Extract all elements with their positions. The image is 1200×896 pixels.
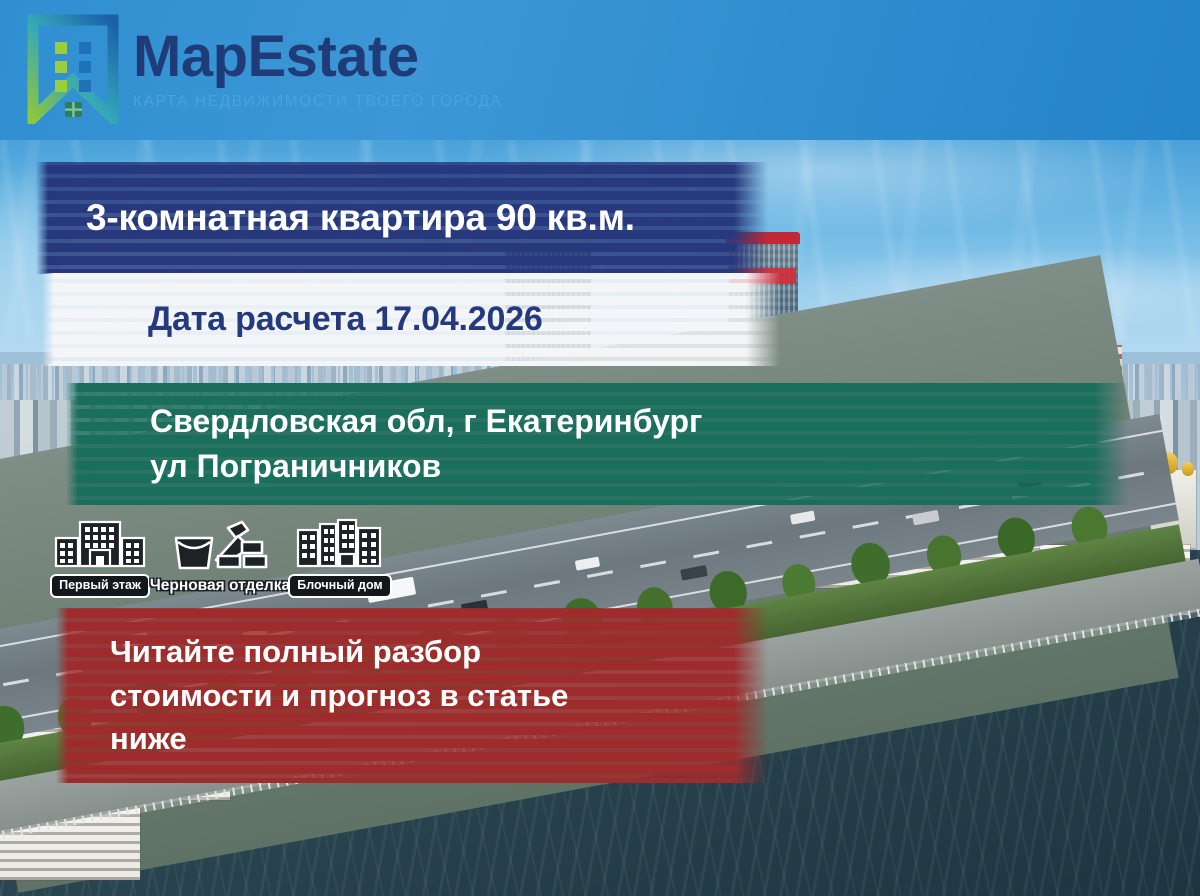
paint-bucket-trowel-icon	[166, 520, 274, 576]
cta-line-1: Читайте полный разбор	[110, 630, 568, 674]
header-bar: MapEstate КАРТА НЕДВИЖИМОСТИ ТВОЕГО ГОРО…	[0, 0, 1200, 140]
bookmark-building-logo-icon	[27, 14, 119, 124]
block-house-icon	[292, 516, 388, 572]
feature-badges: Первый этаж Черновая отделка	[46, 516, 394, 598]
badge-block-house: Блочный дом	[286, 516, 394, 598]
badge-label: Блочный дом	[288, 574, 391, 598]
cta-band[interactable]: Читайте полный разбор стоимости и прогно…	[56, 608, 768, 783]
calculation-date-band: Дата расчета 17.04.2026	[42, 273, 780, 366]
badge-label: Первый этаж	[50, 574, 150, 598]
car	[575, 556, 600, 570]
cta-text: Читайте полный разбор стоимости и прогно…	[56, 630, 568, 761]
brand-tagline: КАРТА НЕДВИЖИМОСТИ ТВОЕГО ГОРОДА	[133, 93, 502, 111]
brand-name: MapEstate	[133, 28, 502, 86]
cta-line-3: ниже	[110, 717, 568, 761]
badge-rough-finish: Черновая отделка	[158, 520, 282, 598]
apartment-building-icon	[52, 516, 148, 572]
calculation-date: Дата расчета 17.04.2026	[42, 300, 543, 339]
property-title: 3-комнатная квартира 90 кв.м.	[36, 197, 635, 239]
badge-first-floor: Первый этаж	[46, 516, 154, 598]
promo-poster: MapEstate КАРТА НЕДВИЖИМОСТИ ТВОЕГО ГОРО…	[0, 0, 1200, 896]
cta-line-2: стоимости и прогноз в статье	[110, 674, 568, 718]
logo[interactable]: MapEstate КАРТА НЕДВИЖИМОСТИ ТВОЕГО ГОРО…	[27, 14, 502, 124]
property-title-band: 3-комнатная квартира 90 кв.м.	[36, 162, 768, 274]
address-text: Свердловская обл, г Екатеринбург ул Погр…	[66, 399, 702, 490]
logo-text: MapEstate КАРТА НЕДВИЖИМОСТИ ТВОЕГО ГОРО…	[133, 28, 502, 111]
address-line-1: Свердловская обл, г Екатеринбург	[150, 399, 702, 444]
address-band: Свердловская обл, г Екатеринбург ул Погр…	[66, 383, 1128, 505]
badge-label: Черновая отделка	[143, 578, 297, 598]
car	[790, 511, 815, 525]
address-line-2: ул Пограничников	[150, 444, 702, 489]
